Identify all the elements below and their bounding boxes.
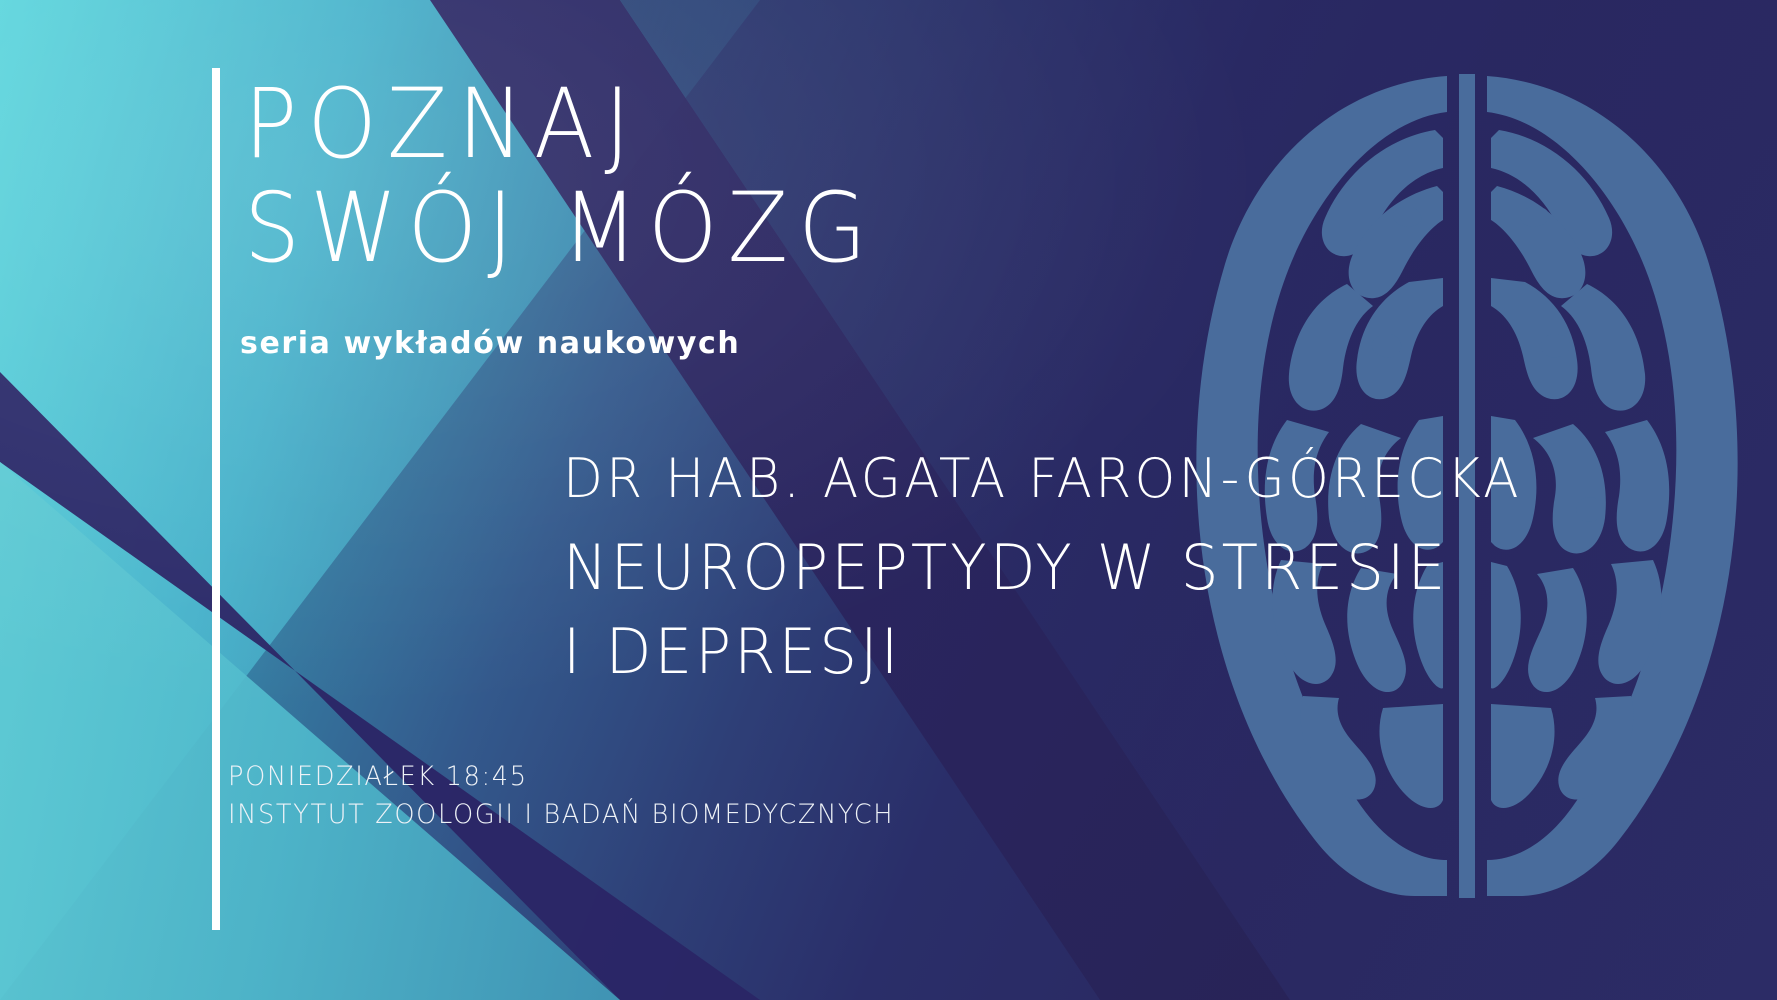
- talk-block: DR HAB. AGATA FARON-GÓRECKA NEUROPEPTYDY…: [563, 440, 1562, 694]
- footer-datetime: PONIEDZIAŁEK 18:45: [228, 758, 894, 796]
- lecture-title-line-2: I DEPRESJI: [563, 610, 1522, 694]
- poster-title: POZNAJ SWÓJ MÓZG: [244, 72, 932, 280]
- speaker-name: DR HAB. AGATA FARON-GÓRECKA: [563, 440, 1522, 518]
- title-line-1: POZNAJ: [244, 72, 877, 176]
- poster-subtitle: seria wykładów naukowych: [240, 326, 740, 361]
- lecture-poster: POZNAJ SWÓJ MÓZG seria wykładów naukowyc…: [0, 0, 1777, 1000]
- vertical-white-rule: [212, 68, 220, 930]
- lecture-title-line-1: NEUROPEPTYDY W STRESIE: [563, 526, 1522, 610]
- footer-venue: INSTYTUT ZOOLOGII I BADAŃ BIOMEDYCZNYCH: [228, 796, 894, 834]
- poster-footer: PONIEDZIAŁEK 18:45 INSTYTUT ZOOLOGII I B…: [228, 758, 929, 834]
- title-line-2: SWÓJ MÓZG: [244, 176, 877, 280]
